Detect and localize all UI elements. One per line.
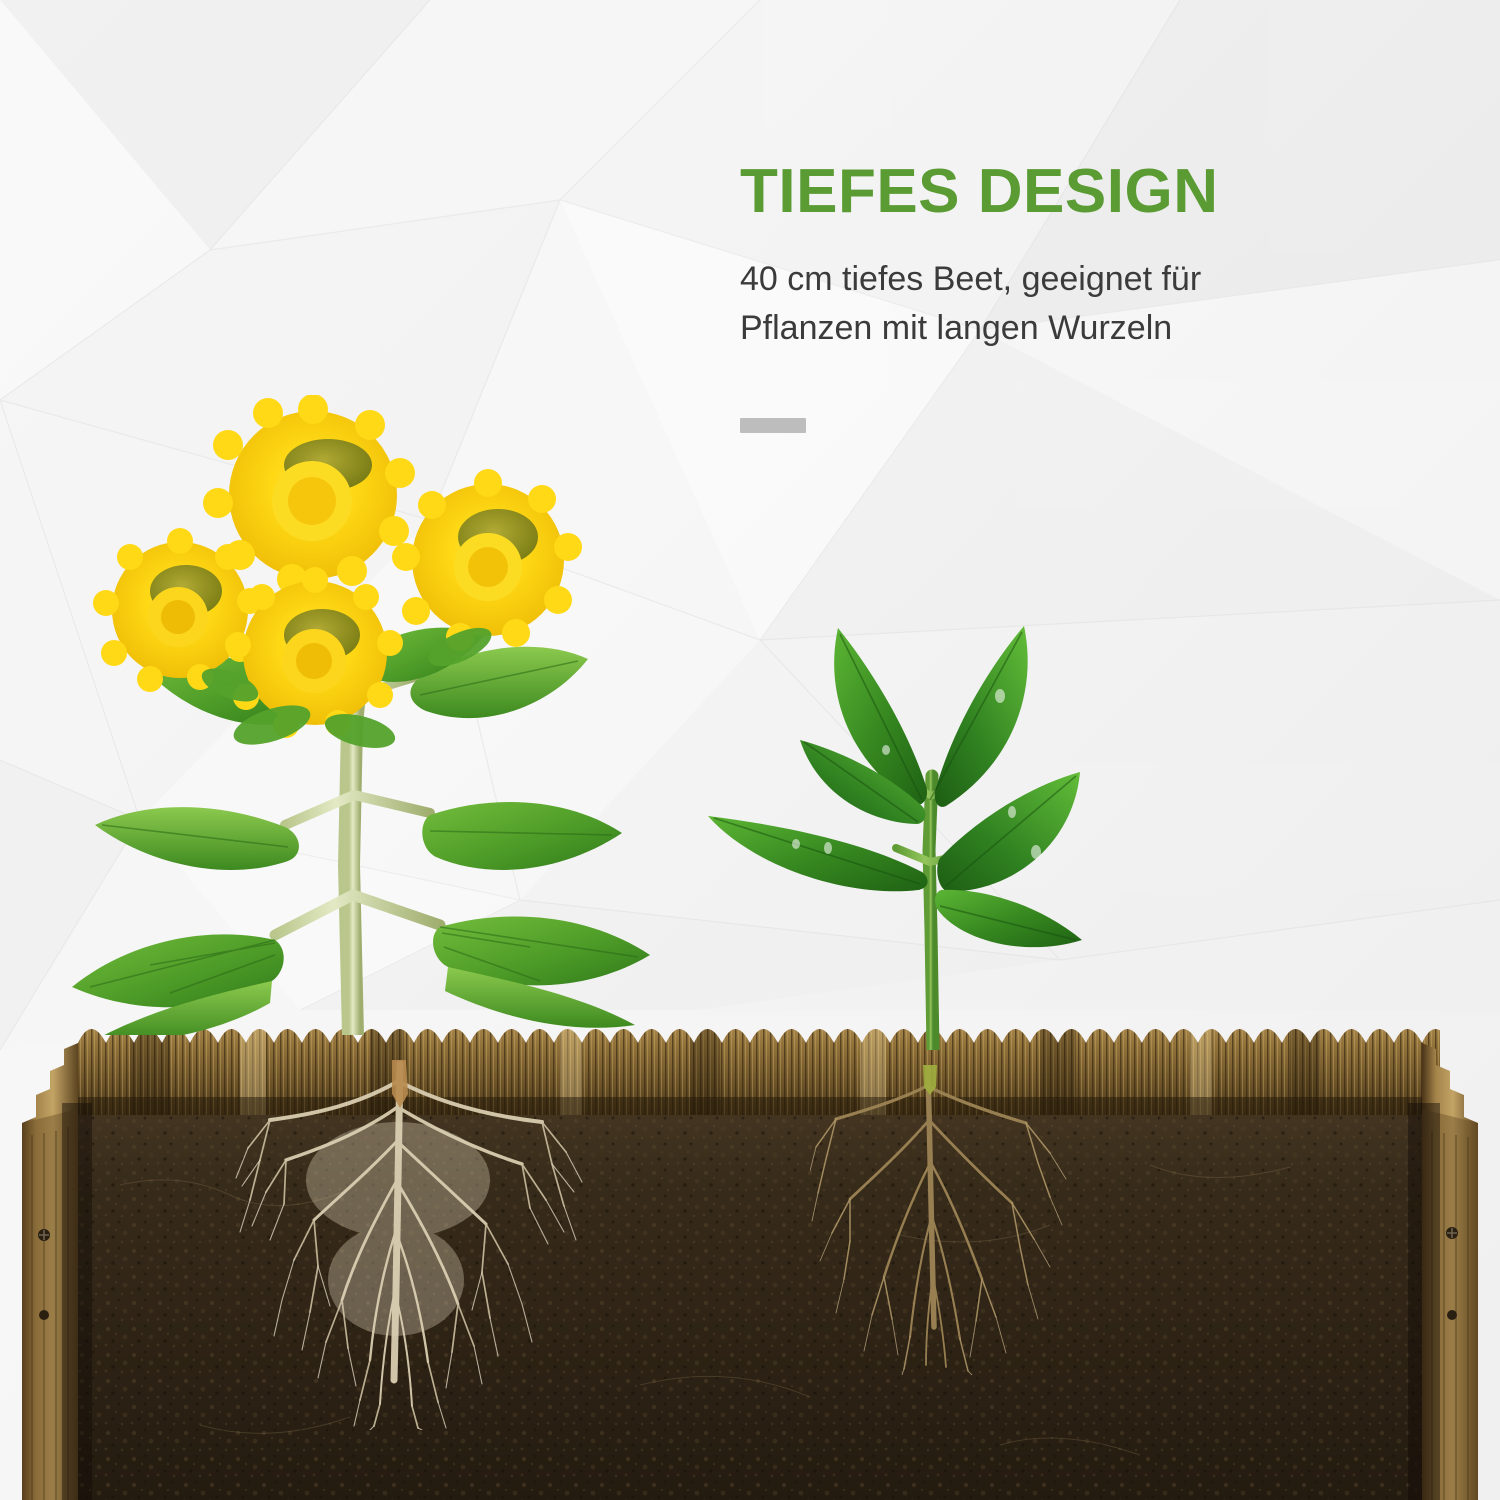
product-feature-banner: TIEFES DESIGN 40 cm tiefes Beet, geeigne… (0, 0, 1500, 1500)
page-title: TIEFES DESIGN (740, 160, 1380, 223)
seedling-root-system (810, 1065, 1090, 1375)
sunflower-root-system (230, 1060, 590, 1430)
seedling-plant (700, 600, 1100, 1050)
screw-icon (1447, 1310, 1457, 1320)
root-crown (392, 1060, 408, 1108)
seedling-leaves (708, 626, 1082, 947)
sunflower-plant (60, 395, 660, 1035)
copy-block: TIEFES DESIGN 40 cm tiefes Beet, geeigne… (740, 160, 1380, 433)
divider (740, 418, 806, 433)
page-subtitle: 40 cm tiefes Beet, geeignet für Pflanzen… (740, 255, 1340, 352)
screw-icon (39, 1310, 49, 1320)
sunflower-bloom-top-right (392, 469, 582, 651)
raised-garden-bed (0, 985, 1500, 1500)
